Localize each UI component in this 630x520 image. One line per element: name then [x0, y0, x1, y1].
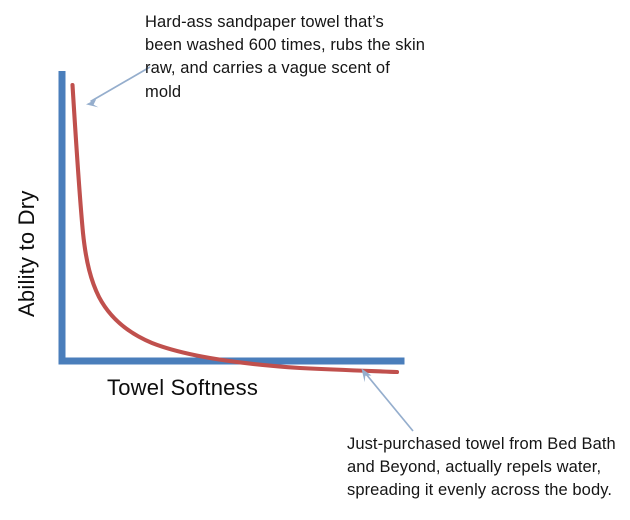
bottom-annotation-text: Just-purchased towel from Bed Bath and B…: [347, 433, 619, 503]
chart-figure: Towel Softness Ability to Dry Hard-ass s…: [0, 0, 630, 520]
top-annotation-arrow: [86, 67, 150, 107]
decay-curve: [73, 85, 398, 372]
top-annotation-text: Hard-ass sandpaper towel that’s been was…: [145, 11, 425, 104]
bottom-annotation-arrow: [362, 369, 414, 432]
x-axis-title: Towel Softness: [107, 375, 258, 401]
y-axis-title: Ability to Dry: [14, 190, 40, 317]
y-axis-line: [59, 71, 66, 364]
